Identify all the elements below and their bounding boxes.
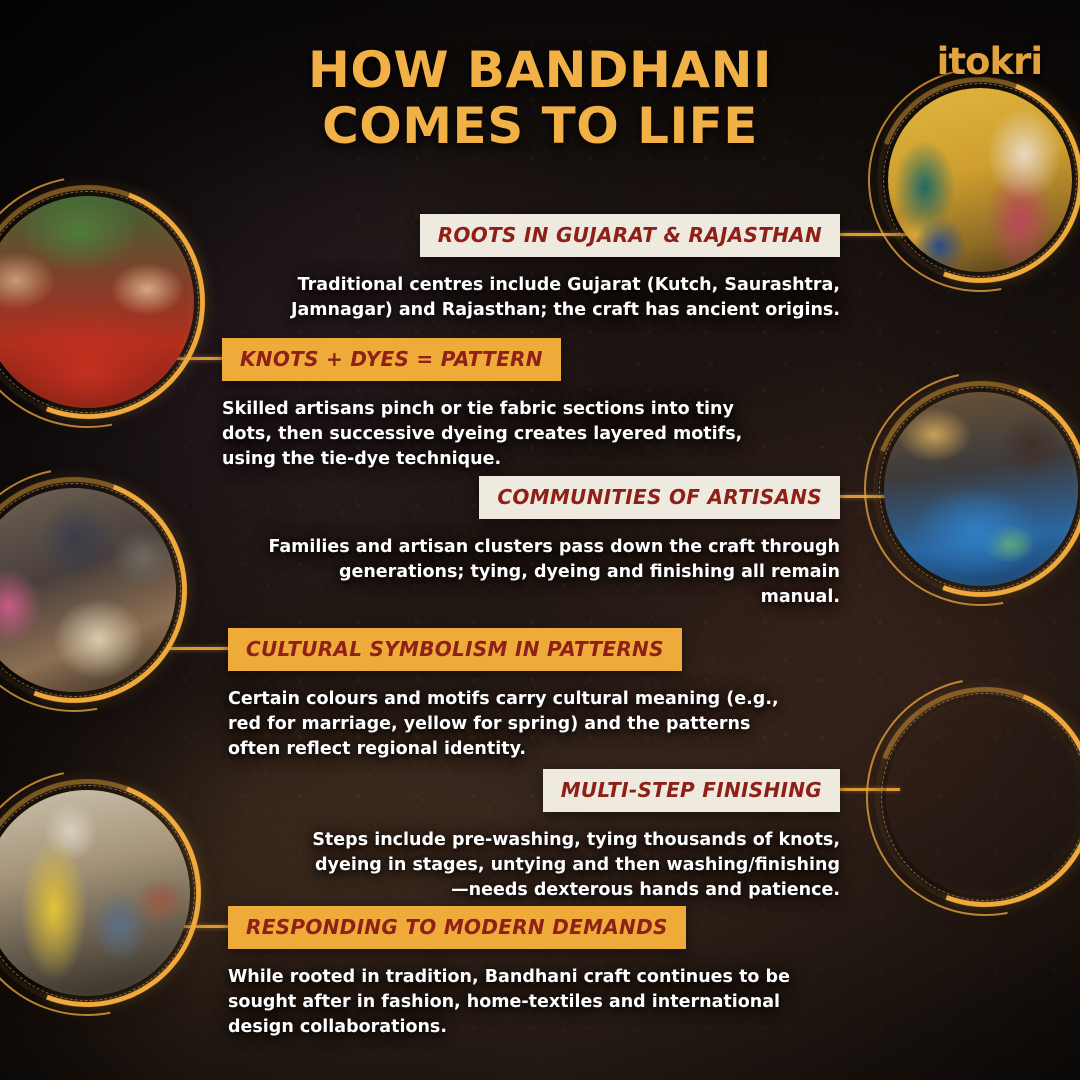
section-modern-demands-body: While rooted in tradition, Bandhani craf… [228, 965, 798, 1040]
section-modern-demands: RESPONDING TO MODERN DEMANDS While roote… [228, 906, 798, 1040]
section-knots-dyes-header: KNOTS + DYES = PATTERN [222, 338, 561, 381]
section-communities-header: COMMUNITIES OF ARTISANS [479, 476, 840, 519]
itokri-logo: itokri [937, 40, 1042, 83]
section-symbolism: CULTURAL SYMBOLISM IN PATTERNS Certain c… [228, 628, 788, 762]
section-knots-dyes-body: Skilled artisans pinch or tie fabric sec… [222, 397, 782, 472]
section-communities: COMMUNITIES OF ARTISANS Families and art… [255, 476, 840, 610]
section-roots: ROOTS IN GUJARAT & RAJASTHAN Traditional… [255, 214, 840, 323]
section-finishing: MULTI-STEP FINISHING Steps include pre-w… [300, 769, 840, 903]
section-symbolism-body: Certain colours and motifs carry cultura… [228, 687, 788, 762]
section-roots-header: ROOTS IN GUJARAT & RAJASTHAN [420, 214, 840, 257]
section-roots-body: Traditional centres include Gujarat (Kut… [255, 273, 840, 323]
photo-indigo-vat [886, 698, 1080, 896]
section-modern-demands-header: RESPONDING TO MODERN DEMANDS [228, 906, 686, 949]
section-finishing-header: MULTI-STEP FINISHING [543, 769, 840, 812]
photo-seated-artisan [0, 488, 176, 692]
section-communities-body: Families and artisan clusters pass down … [255, 535, 840, 610]
section-finishing-body: Steps include pre-washing, tying thousan… [300, 828, 840, 903]
photo-red-knot-hands [0, 196, 194, 408]
infographic-poster: itokri HOW BANDHANI COMES TO LIFE [0, 0, 1080, 1080]
photo-yellow-skeins [0, 790, 190, 996]
section-knots-dyes: KNOTS + DYES = PATTERN Skilled artisans … [222, 338, 782, 472]
photo-dyer-blue-vat [884, 392, 1078, 586]
photo-women-tying [888, 88, 1072, 272]
section-symbolism-header: CULTURAL SYMBOLISM IN PATTERNS [228, 628, 682, 671]
